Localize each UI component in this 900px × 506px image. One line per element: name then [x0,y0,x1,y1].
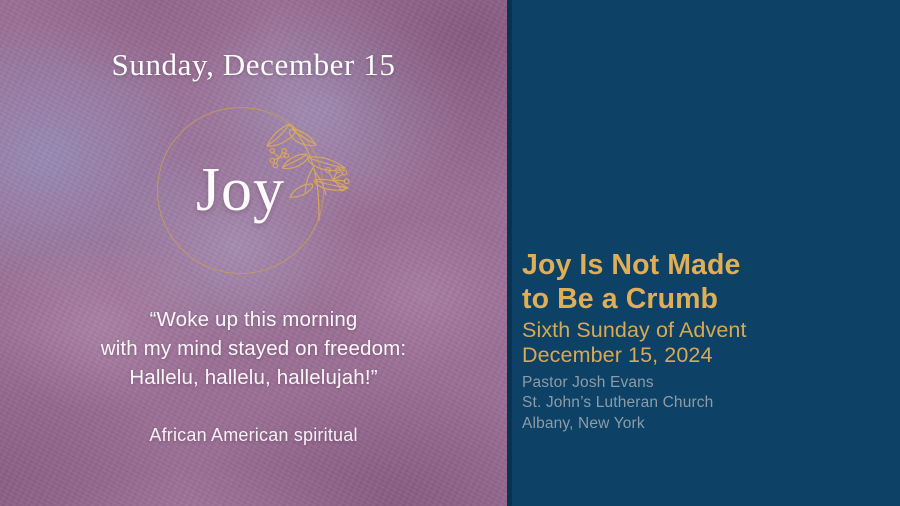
credit-congregation: St. John’s Lutheran Church [522,393,886,414]
service-date: December 15, 2024 [522,343,886,368]
credit-preacher: Pastor Josh Evans [522,373,886,394]
credits-block: Pastor Josh Evans St. John’s Lutheran Ch… [522,373,886,435]
sermon-title-line-1: Joy Is Not Made [522,249,886,283]
right-panel: Joy Is Not Made to Be a Crumb Sixth Sund… [507,0,900,506]
panel-edge-strip [507,0,512,506]
left-panel: Sunday, December 15 Joy [0,0,507,506]
joy-word: Joy [157,158,324,220]
date-heading: Sunday, December 15 [0,47,507,83]
credit-location: Albany, New York [522,414,886,435]
worship-slide: Sunday, December 15 Joy [0,0,900,506]
quote-block: “Woke up this morning with my mind staye… [40,305,467,392]
service-occasion: Sixth Sunday of Advent [522,318,886,343]
sermon-info-block: Joy Is Not Made to Be a Crumb Sixth Sund… [522,249,886,434]
quote-line-3: Hallelu, hallelu, hallelujah!” [40,363,467,392]
joy-emblem: Joy [157,107,324,274]
quote-line-2: with my mind stayed on freedom: [40,334,467,363]
quote-line-1: “Woke up this morning [40,305,467,334]
sermon-title-line-2: to Be a Crumb [522,283,886,317]
quote-attribution: African American spiritual [40,425,467,446]
sermon-title: Joy Is Not Made to Be a Crumb [522,249,886,316]
